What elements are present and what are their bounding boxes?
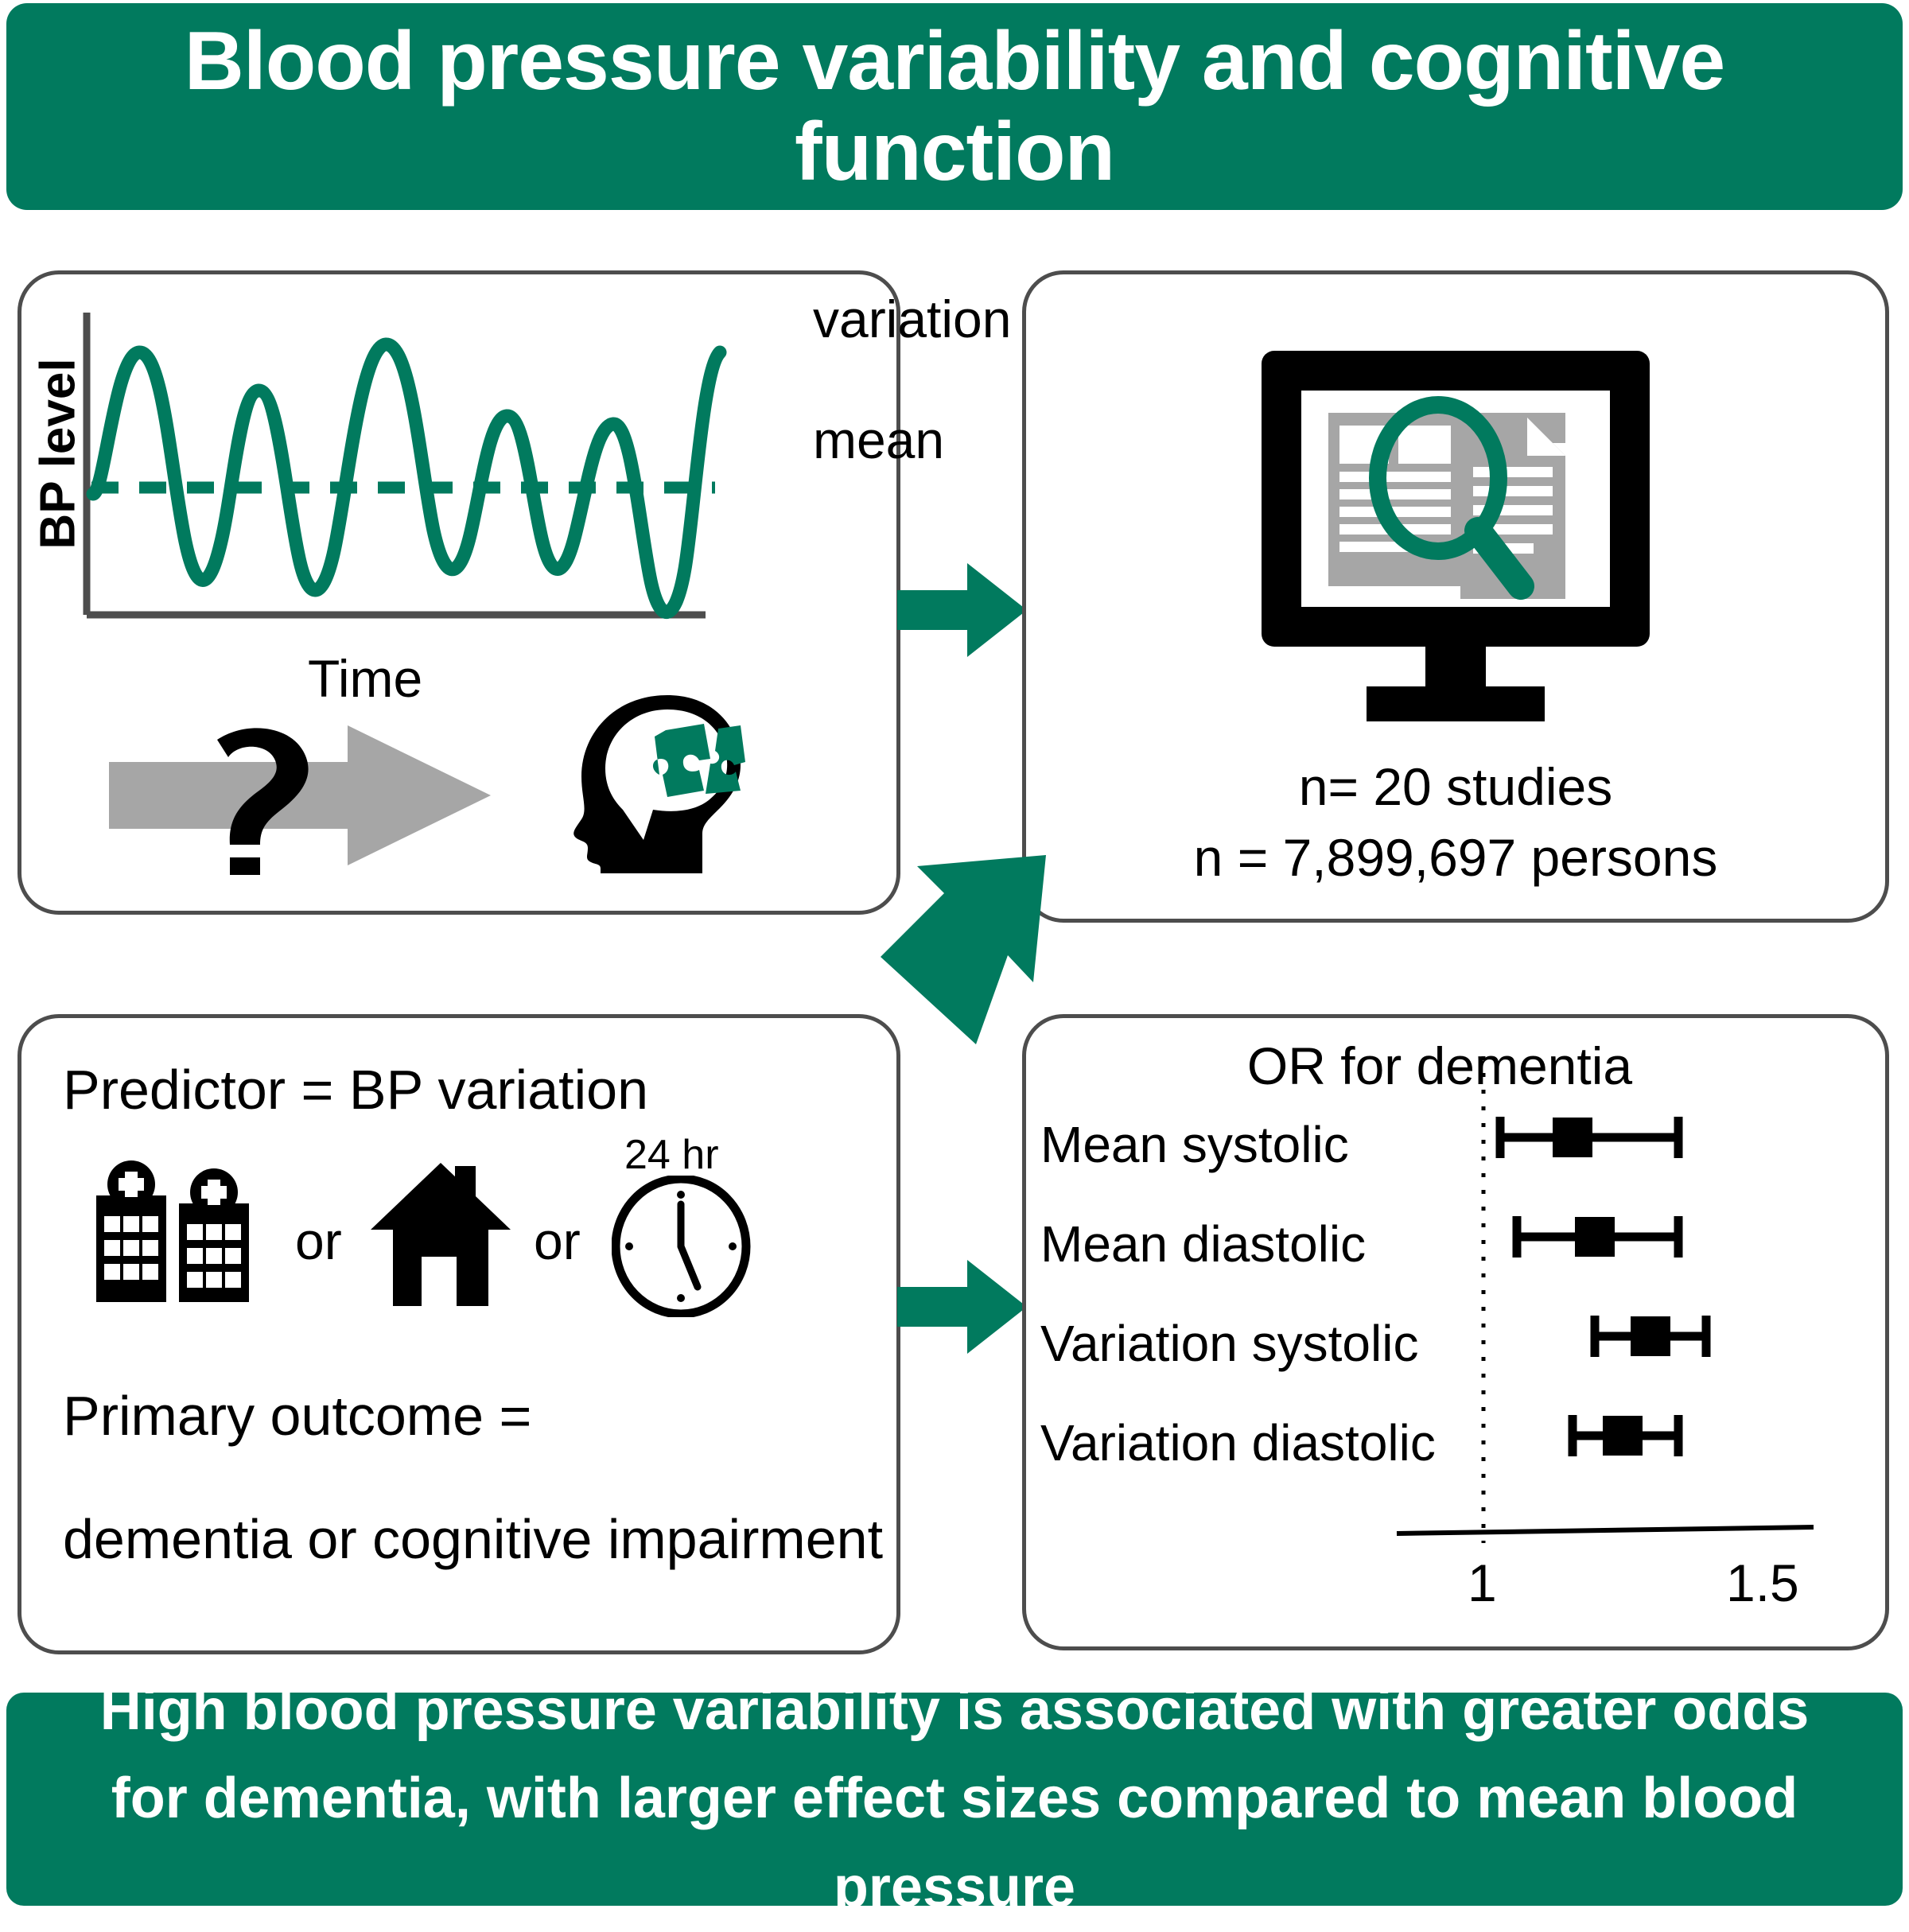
bp-variability-curve [93,344,720,612]
or-separator-1: or [295,1211,342,1271]
title-banner: Blood pressure variability and cognitive… [6,3,1903,210]
forest-row-2 [1595,1316,1706,1357]
waveform-svg [69,306,769,648]
head-brain-puzzle-icon [546,692,753,875]
forest-row-3 [1573,1415,1678,1456]
conclusion-banner: High blood pressure variability is assoc… [6,1693,1903,1906]
forest-plot-area: Mean systolic Mean diastolic Variation s… [1026,1018,1885,1646]
effect-marker [1553,1118,1592,1157]
panel-literature-search: n= 20 studies n = 7,899,697 persons [1022,270,1889,923]
variation-label: variation [813,289,1011,349]
forest-row-label-2: Variation systolic [1040,1314,1418,1373]
conclusion-text: High blood pressure variability is assoc… [6,1666,1903,1932]
x-axis-line [1397,1527,1814,1534]
forest-row-label-0: Mean systolic [1040,1115,1349,1174]
hospital-icon [87,1157,270,1308]
arrow-panel1-to-panel2-icon [897,558,1028,662]
studies-count: n= 20 studies [1026,752,1885,822]
forest-row-label-1: Mean diastolic [1040,1215,1366,1273]
effect-marker [1575,1217,1615,1257]
forest-row-label-3: Variation diastolic [1040,1413,1436,1472]
mean-label: mean [813,410,944,470]
or-separator-2: or [534,1211,581,1271]
literature-counts: n= 20 studies n = 7,899,697 persons [1026,752,1885,893]
forest-row-0 [1500,1117,1678,1158]
clock-duration-label: 24 hr [624,1131,719,1179]
y-axis-label: BP level [30,358,87,549]
monitor-document-search-icon [1257,346,1654,728]
effect-marker [1631,1316,1670,1356]
panel-forest-plot: OR for dementia Mean systolic Mean diast… [1022,1014,1889,1650]
graphical-abstract: Blood pressure variability and cognitive… [0,0,1909,1909]
gray-arrow-with-question-icon [109,716,499,875]
effect-marker [1603,1416,1643,1456]
persons-count: n = 7,899,697 persons [1026,822,1885,893]
predictor-text: Predictor = BP variation [63,1058,648,1121]
x-tick-label-1: 1.5 [1726,1553,1799,1613]
arrow-panel3-to-panel4-icon [897,1255,1028,1359]
x-tick-label-0: 1 [1468,1553,1497,1613]
panel-study-design: Predictor = BP variation [17,1014,900,1654]
question-to-brain-illustration [101,692,857,883]
primary-outcome-value: dementia or cognitive impairment [63,1507,883,1571]
primary-outcome-label: Primary outcome = [63,1384,531,1448]
house-icon [369,1161,512,1308]
clock-icon [612,1176,751,1317]
bp-level-chart: BP level Time variation mean [69,306,753,640]
panel-bp-variability: BP level Time variation mean [17,270,900,915]
page-title: Blood pressure variability and cognitive… [6,16,1903,198]
exposure-setting-icons: or or 24 hr [63,1137,858,1320]
forest-row-1 [1517,1216,1678,1258]
clock-group: 24 hr [612,1137,763,1316]
